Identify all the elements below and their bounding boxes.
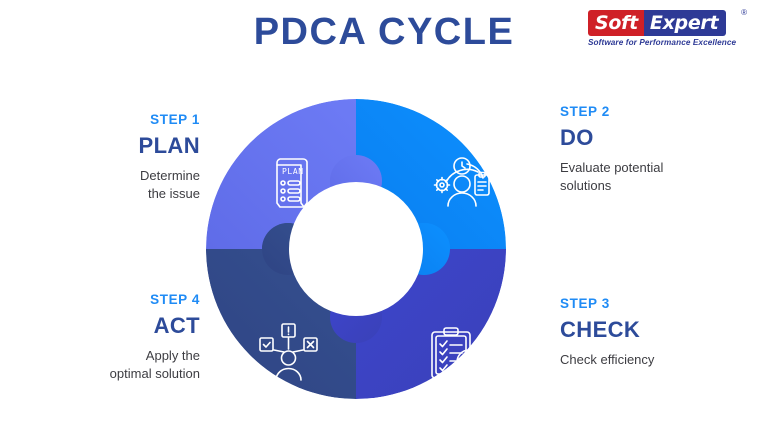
step-desc-check-line1: Check efficiency	[560, 351, 760, 370]
step-label-1: STEP 1	[52, 112, 200, 129]
step-label-4: STEP 4	[42, 292, 200, 309]
svg-text:PLAN: PLAN	[282, 167, 304, 176]
step-title-check: CHECK	[560, 315, 760, 345]
step-title-act: ACT	[42, 311, 200, 341]
registered-trademark-icon: ®	[741, 8, 747, 17]
step-desc-plan: Determine the issue	[52, 167, 200, 205]
wheel-tab-act-left	[262, 223, 314, 275]
step-desc-check: Check efficiency	[560, 351, 760, 370]
step-desc-do: Evaluate potential solutions	[560, 159, 760, 197]
step-desc-act: Apply the optimal solution	[42, 347, 200, 385]
wheel-notch-check-right	[398, 223, 450, 275]
step-title-plan: PLAN	[52, 131, 200, 161]
step-block-plan: STEP 1 PLAN Determine the issue	[52, 112, 200, 204]
logo-tagline: Software for Performance Excellence	[588, 38, 748, 47]
logo-wordmark: Soft Expert ®	[588, 10, 740, 36]
logo-soft-text: Soft	[588, 10, 644, 36]
softexpert-logo: Soft Expert ® Software for Performance E…	[588, 10, 748, 54]
step-desc-plan-line1: Determine	[52, 167, 200, 186]
logo-expert-text: Expert	[644, 10, 726, 36]
step-desc-do-line2: solutions	[560, 177, 760, 196]
wheel-notch-act-bottom	[330, 291, 382, 343]
pdca-cycle-wheel: PLAN	[206, 84, 506, 414]
step-desc-act-line1: Apply the	[42, 347, 200, 366]
step-desc-do-line1: Evaluate potential	[560, 159, 760, 178]
step-block-act: STEP 4 ACT Apply the optimal solution	[42, 292, 200, 384]
step-label-2: STEP 2	[560, 104, 760, 121]
step-label-3: STEP 3	[560, 296, 760, 313]
step-desc-act-line2: optimal solution	[42, 365, 200, 384]
step-desc-plan-line2: the issue	[52, 185, 200, 204]
step-title-do: DO	[560, 123, 760, 153]
wheel-notch-do-top	[330, 155, 382, 207]
step-block-check: STEP 3 CHECK Check efficiency	[560, 296, 760, 369]
step-block-do: STEP 2 DO Evaluate potential solutions	[560, 104, 760, 196]
